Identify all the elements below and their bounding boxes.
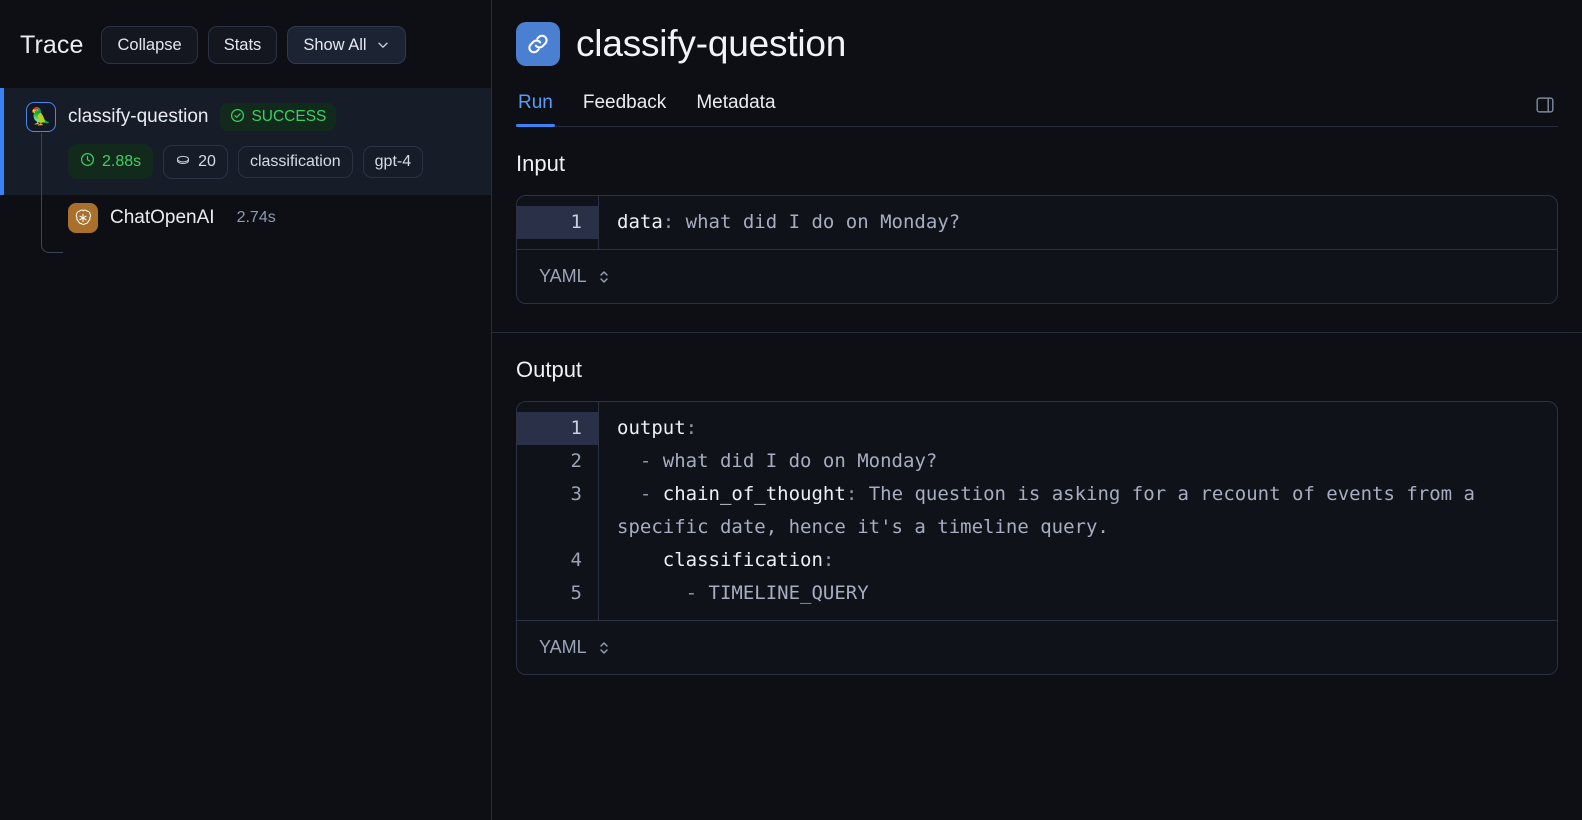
tokens-chip: 20 (163, 145, 228, 179)
tokens-icon (175, 153, 191, 171)
output-line-numbers: 123.45 (517, 402, 599, 620)
output-code-card: 123.45 output: - what did I do on Monday… (516, 401, 1558, 675)
input-code-card: 1 data: what did I do on Monday? YAML (516, 195, 1558, 304)
line-number: 1 (517, 206, 598, 239)
line-number: 5 (517, 577, 598, 610)
code-token: classification (663, 549, 823, 571)
run-sections: Input 1 data: what did I do on Monday? Y… (492, 127, 1582, 820)
input-code-body: 1 data: what did I do on Monday? (517, 196, 1557, 249)
check-circle-icon (230, 108, 245, 127)
status-badge: SUCCESS (220, 103, 336, 132)
trace-tree: 🦜 classify-question SUCCESS (0, 88, 491, 820)
tree-node-chatopenai[interactable]: ChatOpenAI 2.74s (0, 195, 491, 241)
tree-node-classify-question[interactable]: 🦜 classify-question SUCCESS (0, 88, 491, 195)
code-token: : (823, 549, 834, 571)
show-all-label: Show All (303, 37, 366, 54)
page-title-row: classify-question (516, 22, 1558, 66)
output-section: Output 123.45 output: - what did I do on… (492, 332, 1582, 703)
tab-feedback[interactable]: Feedback (581, 88, 668, 126)
chain-link-icon (516, 22, 560, 66)
model-chip-label: gpt-4 (375, 154, 411, 170)
clock-icon (80, 152, 95, 171)
input-code-text[interactable]: data: what did I do on Monday? (599, 196, 1557, 249)
line-number: 1 (517, 412, 598, 445)
collapse-button[interactable]: Collapse (101, 26, 197, 65)
code-token: - (617, 582, 709, 604)
code-token: chain_of_thought (663, 483, 846, 505)
input-line-numbers: 1 (517, 196, 599, 249)
show-all-dropdown[interactable]: Show All (287, 26, 405, 65)
input-section: Input 1 data: what did I do on Monday? Y… (492, 127, 1582, 332)
code-line: classification: (617, 544, 1543, 577)
stats-button[interactable]: Stats (208, 26, 278, 65)
code-token: data (617, 211, 663, 233)
line-number-wrap: . (517, 511, 598, 544)
latency-chip: 2.88s (68, 144, 153, 179)
tree-node-header: 🦜 classify-question SUCCESS (0, 102, 491, 132)
trace-toolbar: Trace Collapse Stats Show All (0, 0, 491, 88)
sidebar-panel-toggle-icon[interactable] (1532, 92, 1558, 118)
status-badge-label: SUCCESS (251, 109, 326, 125)
input-format-label: YAML (539, 266, 587, 287)
line-number: 3 (517, 478, 598, 511)
page-title: classify-question (576, 23, 846, 65)
code-line: - chain_of_thought: The question is aski… (617, 478, 1543, 544)
code-token: : (846, 483, 857, 505)
output-format-label: YAML (539, 637, 587, 658)
code-line: - TIMELINE_QUERY (617, 577, 1543, 610)
tree-node-chips: 2.88s 20 classification (0, 144, 491, 179)
line-number: 4 (517, 544, 598, 577)
code-token: : (686, 417, 697, 439)
tag-chip-model: gpt-4 (363, 146, 423, 178)
trace-sidebar: Trace Collapse Stats Show All 🦜 classify… (0, 0, 492, 820)
app-root: Trace Collapse Stats Show All 🦜 classify… (0, 0, 1582, 820)
code-token: - (617, 450, 663, 472)
latency-chip-label: 2.88s (102, 154, 141, 170)
code-token: TIMELINE_QUERY (709, 582, 869, 604)
code-token (617, 549, 663, 571)
output-code-text[interactable]: output: - what did I do on Monday? - cha… (599, 402, 1557, 620)
code-line: - what did I do on Monday? (617, 445, 1543, 478)
code-token: : (663, 211, 674, 233)
tree-node-label: ChatOpenAI (110, 207, 215, 229)
parrot-icon: 🦜 (26, 102, 56, 132)
run-detail-panel: classify-question Run Feedback Metadata … (492, 0, 1582, 820)
input-section-title: Input (516, 151, 1558, 177)
code-line: data: what did I do on Monday? (617, 206, 1543, 239)
chevron-down-icon (376, 38, 390, 52)
tree-node-header: ChatOpenAI 2.74s (0, 203, 491, 233)
code-token: - (617, 483, 663, 505)
tab-run[interactable]: Run (516, 88, 555, 126)
code-line: output: (617, 412, 1543, 445)
line-number: 2 (517, 445, 598, 478)
tag-chip-label: classification (250, 154, 341, 170)
chevron-updown-icon[interactable] (597, 268, 611, 286)
code-token: what did I do on Monday? (663, 450, 938, 472)
tokens-chip-label: 20 (198, 154, 216, 170)
output-format-bar: YAML (517, 620, 1557, 674)
output-code-body: 123.45 output: - what did I do on Monday… (517, 402, 1557, 620)
tree-node-duration: 2.74s (237, 209, 276, 227)
run-header: classify-question Run Feedback Metadata (492, 0, 1582, 127)
input-format-bar: YAML (517, 249, 1557, 303)
tree-node-label: classify-question (68, 106, 208, 128)
output-section-title: Output (516, 357, 1558, 383)
tag-chip-classification: classification (238, 146, 353, 178)
openai-icon (68, 203, 98, 233)
code-token: what did I do on Monday? (674, 211, 960, 233)
trace-panel-title: Trace (20, 31, 83, 60)
tab-metadata[interactable]: Metadata (694, 88, 777, 126)
run-tabs: Run Feedback Metadata (516, 88, 1558, 127)
chevron-updown-icon[interactable] (597, 639, 611, 657)
code-token: output (617, 417, 686, 439)
